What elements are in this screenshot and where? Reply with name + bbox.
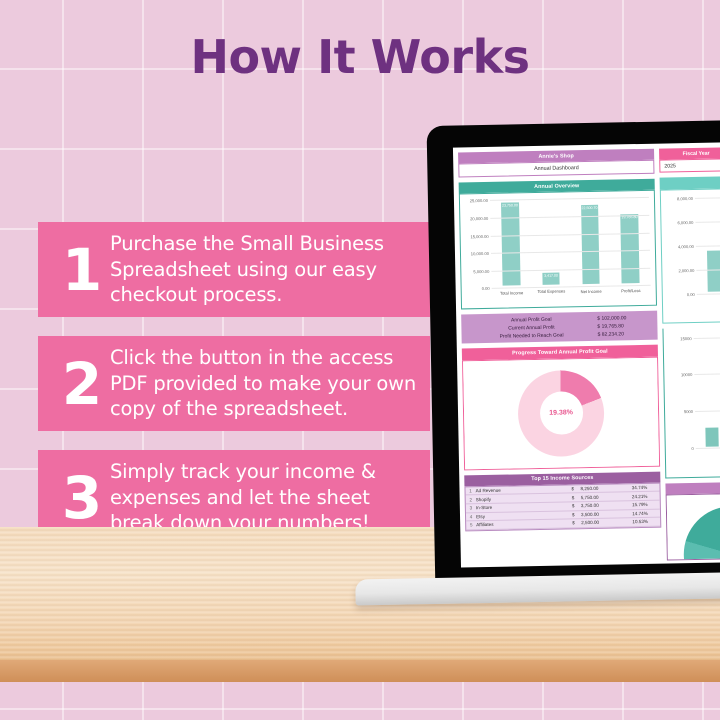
row-source-name: Ad Revenue <box>475 486 571 493</box>
profit-goals-panel: Annual Profit Goal $ 102,000.00 Current … <box>461 311 658 344</box>
fiscal-year-panel: Fiscal Year 2025 ▾ <box>659 145 720 173</box>
spreadsheet-dashboard[interactable]: Annie's Shop Annual Dashboard Annual Ove… <box>453 140 720 567</box>
gridline <box>695 195 720 199</box>
row-source-name: Affiliates <box>476 521 572 528</box>
goal-value: $ 19,765.80 <box>597 323 653 330</box>
y-axis-tick-label: 2,000.00 <box>664 268 694 274</box>
shop-header-panel: Annie's Shop Annual Dashboard <box>458 149 654 178</box>
cumulative-totals-chart: 050001000015000JanuaryFebruaryMarch <box>662 325 720 479</box>
goal-value: $ 102,000.00 <box>597 315 653 322</box>
row-amount: $5,750.00 <box>572 494 620 500</box>
step-card-1: 1 Purchase the Small Business Spreadshee… <box>38 222 430 317</box>
y-axis-tick-label: 25,000.00 <box>460 198 488 204</box>
y-axis-tick-label: 0.00 <box>462 286 490 292</box>
progress-panel: Progress Toward Annual Profit Goal 19.38… <box>462 345 660 470</box>
row-rank: 3 <box>466 505 476 510</box>
step-card-2: 2 Click the button in the access PDF pro… <box>38 336 430 431</box>
y-axis-tick-label: 15000 <box>666 336 692 341</box>
annual-overview-panel: Annual Overview 23,750.003,417.0022,500.… <box>459 179 657 310</box>
y-axis-tick-label: 5000 <box>667 409 693 414</box>
row-rank: 1 <box>465 488 475 493</box>
y-axis-tick-label: 15,000.00 <box>461 233 489 239</box>
row-source-name: Shopify <box>476 495 572 502</box>
row-rank: 4 <box>466 514 476 519</box>
row-percent: 34.74% <box>619 485 659 491</box>
pie-slices <box>683 505 720 559</box>
income-sources-panel: Top 15 Income Sources 1Ad Revenue$8,250.… <box>464 471 661 531</box>
desk-edge <box>0 660 720 682</box>
progress-donut-chart: 19.38% <box>462 356 660 470</box>
y-axis-tick-label: 20,000.00 <box>460 216 488 222</box>
row-amount: $3,500.00 <box>572 511 620 517</box>
row-amount: $3,750.00 <box>572 503 620 509</box>
dashboard-left-column: Annie's Shop Annual Dashboard Annual Ove… <box>458 149 662 568</box>
monthly-income-panel: 0.002,000.004,000.006,000.008,000.00Janu… <box>660 174 720 323</box>
step-number-1: 1 <box>54 241 110 299</box>
income-sources-table[interactable]: 1Ad Revenue$8,250.0034.74%2Shopify$5,750… <box>464 482 661 531</box>
row-amount: $2,500.00 <box>572 520 620 526</box>
x-axis-tick-label: Total Expenses <box>531 290 571 295</box>
y-axis-tick-label: 0.00 <box>665 292 695 298</box>
bar <box>501 202 520 286</box>
step-text-2: Click the button in the access PDF provi… <box>110 345 416 422</box>
cumulative-totals-panel: 050001000015000JanuaryFebruaryMarch <box>662 325 720 479</box>
y-axis-tick-label: 8,000.00 <box>663 196 693 202</box>
bar <box>706 427 719 446</box>
progress-percent-label: 19.38% <box>549 409 573 416</box>
bar-value-label: 3,417.00 <box>531 274 571 279</box>
monthly-income-title <box>660 174 720 189</box>
row-source-name: Etsy <box>476 512 572 519</box>
bar-value-label: 23,750.00 <box>490 203 530 208</box>
y-axis-tick-label: 10,000.00 <box>461 251 489 257</box>
donut-ring: 19.38% <box>517 369 605 457</box>
bar <box>707 250 720 291</box>
annual-overview-chart: 23,750.003,417.0022,500.7019,765.80 0.00… <box>459 190 657 310</box>
row-percent: 24.21% <box>620 493 660 499</box>
row-percent: 15.79% <box>620 502 660 508</box>
y-axis-tick-label: 4,000.00 <box>664 244 694 250</box>
dashboard-right-column: Fiscal Year 2025 ▾ 0.002,000.0 <box>659 145 720 563</box>
monthly-income-chart: 0.002,000.004,000.006,000.008,000.00Janu… <box>660 186 720 324</box>
row-rank: 2 <box>466 497 476 502</box>
row-percent: 10.53% <box>620 519 660 525</box>
goal-label: Profit Needed to Reach Goal <box>466 332 598 341</box>
bar <box>621 214 640 284</box>
goal-value: $ 82,234.20 <box>598 331 654 338</box>
income-pie-chart: 10.5% <box>666 491 720 561</box>
fiscal-year-value: 2025 <box>664 163 676 169</box>
pie-title: Top 15 Income S <box>665 480 720 495</box>
y-axis-tick-label: 10000 <box>666 372 692 377</box>
x-axis-tick-label: Profit/Loss <box>611 288 651 294</box>
row-rank: 5 <box>466 523 476 528</box>
dashboard-subtitle: Annual Dashboard <box>458 160 654 178</box>
x-axis-tick-label: Net Income <box>571 289 611 295</box>
y-axis-tick-label: 5,000.00 <box>461 269 489 275</box>
laptop-device: Annie's Shop Annual Dashboard Annual Ove… <box>427 118 720 596</box>
step-number-3: 3 <box>54 469 110 527</box>
fiscal-year-dropdown[interactable]: 2025 ▾ <box>659 158 720 173</box>
row-percent: 14.74% <box>620 510 660 516</box>
step-text-3: Simply track your income & expenses and … <box>110 459 416 536</box>
page-title: How It Works <box>0 30 720 84</box>
row-amount: $8,250.00 <box>571 485 619 491</box>
gridline <box>694 335 720 339</box>
x-axis-tick-label: Total Income <box>492 290 532 296</box>
row-source-name: In-Store <box>476 504 572 511</box>
step-text-1: Purchase the Small Business Spreadsheet … <box>110 231 416 308</box>
step-number-2: 2 <box>54 355 110 413</box>
y-axis-tick-label: 0 <box>668 446 694 451</box>
top-income-pie-panel: Top 15 Income S 10.5% <box>665 480 720 561</box>
fiscal-year-control[interactable]: Fiscal Year 2025 ▾ <box>659 147 720 173</box>
y-axis-tick-label: 6,000.00 <box>663 220 693 226</box>
bar-value-label: 22,500.70 <box>570 206 610 211</box>
